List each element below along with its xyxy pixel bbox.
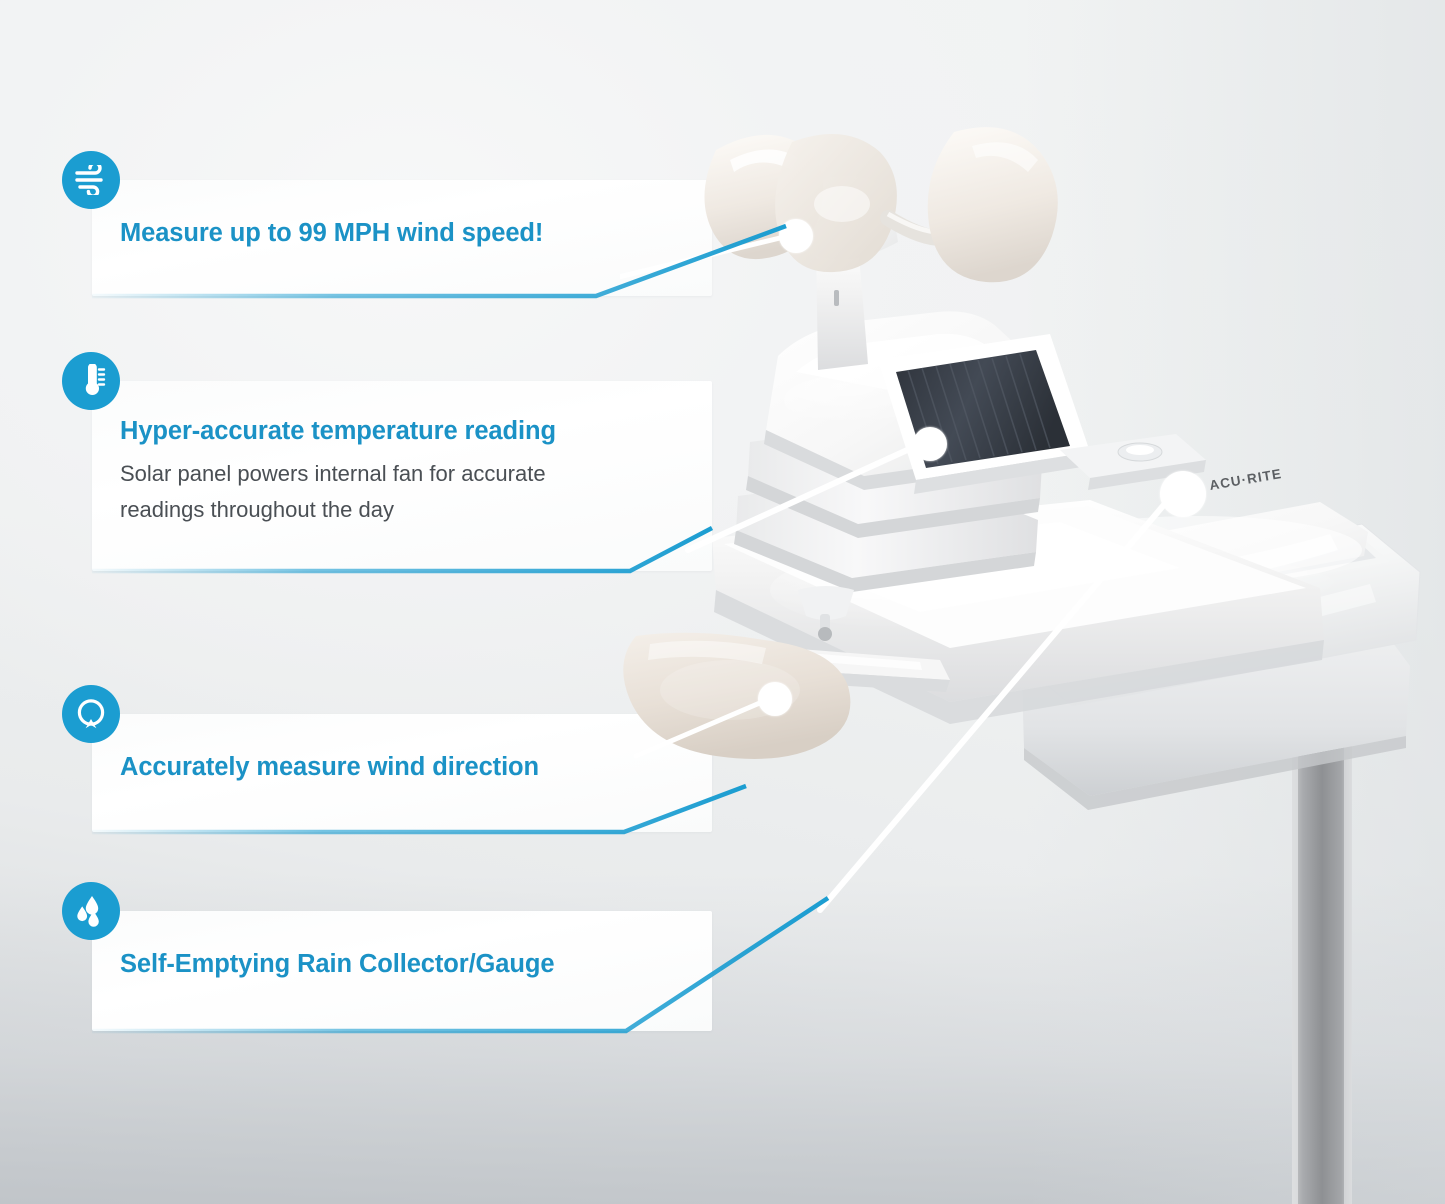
callout-title-wind-speed: Measure up to 99 MPH wind speed! (120, 219, 543, 248)
product-image-weather-station (620, 120, 1430, 1204)
infographic-canvas: Measure up to 99 MPH wind speed! Hyper-a… (0, 0, 1445, 1204)
wind-direction-icon (62, 685, 120, 743)
hotspot-dot-temperature (913, 427, 947, 461)
thermometer-icon-glyph (76, 364, 106, 398)
rain-drops-icon-glyph (75, 894, 107, 928)
callout-title-rain-collector: Self-Emptying Rain Collector/Gauge (120, 950, 554, 979)
mounting-pole (1292, 716, 1352, 1204)
hotspot-dot-wind-speed (779, 219, 813, 253)
hotspot-dot-rain-collector (1160, 471, 1206, 517)
solar-panel-assembly (878, 334, 1206, 494)
callout-title-wind-direction: Accurately measure wind direction (120, 753, 539, 782)
callout-title-temperature: Hyper-accurate temperature reading (120, 417, 556, 446)
weather-station-illustration (620, 120, 1430, 1204)
wind-speed-icon-glyph (74, 165, 108, 195)
thermometer-icon (62, 352, 120, 410)
rain-drops-icon (62, 882, 120, 940)
hotspot-dot-wind-direction (758, 682, 792, 716)
callout-body-temperature: Solar panel powers internal fan for accu… (120, 456, 720, 527)
wind-direction-icon-glyph (74, 697, 108, 731)
wind-speed-icon (62, 151, 120, 209)
